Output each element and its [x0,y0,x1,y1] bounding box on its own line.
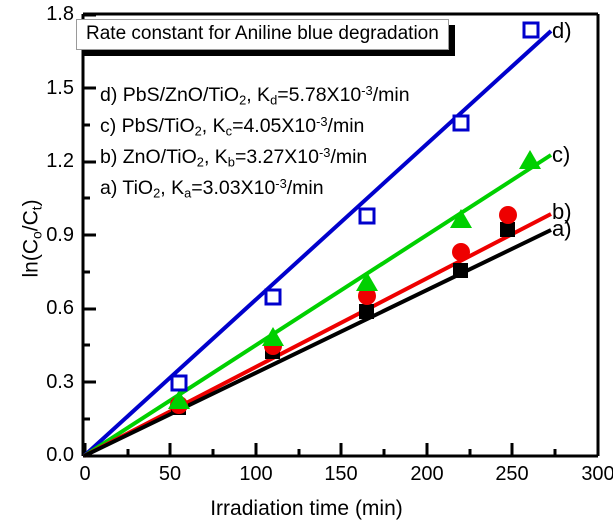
y-axis-title-post: ) [20,199,43,206]
curve-tag-d: d) [552,18,572,44]
x-tick-label-2: 100 [226,463,286,486]
y-axis-title-mid: /C [20,210,43,231]
legend-d-sep: , K [246,84,270,106]
legend-c-sep: , K [202,115,226,137]
y-axis-title: ln(Co/Ct) [20,143,45,333]
legend-c-value: =4.05X10 [232,115,316,137]
x-tick-label-3: 150 [311,463,371,486]
legend-c-exponent: -3 [316,114,327,129]
y-tick-label-6: 1.8 [28,3,74,26]
legend-b-formula-sub: 2 [197,155,204,170]
legend-d-exponent: -3 [361,83,372,98]
chart-figure: Rate constant for Aniline blue degradati… [0,0,613,532]
y-axis-title-sub-o: o [28,231,44,239]
legend-a-unit: /min [287,177,324,199]
legend-row-d: d) PbS/ZnO/TiO2, Kd=5.78X10-3/min [100,80,410,111]
legend-a-formula: a) TiO [100,177,153,199]
legend-c-unit: /min [328,115,365,137]
curve-tag-c: c) [552,142,570,168]
legend-row-a: a) TiO2, Ka=3.03X10-3/min [100,173,410,204]
legend-d-formula: d) PbS/ZnO/TiO [100,84,239,106]
x-tick-label-0: 0 [55,463,115,486]
y-tick-label-1: 0.3 [28,371,74,394]
legend-row-b: b) ZnO/TiO2, Kb=3.27X10-3/min [100,142,410,173]
y-axis-title-pre: ln(C [20,239,43,278]
legend-b-value: =3.27X10 [235,146,319,168]
x-tick-label-4: 200 [397,463,457,486]
fit-line-series-a [84,230,551,456]
legend-row-c: c) PbS/TiO2, Kc=4.05X10-3/min [100,111,410,142]
markers-series-d [172,23,538,390]
legend-block: d) PbS/ZnO/TiO2, Kd=5.78X10-3/min c) PbS… [100,80,410,204]
x-tick-label-1: 50 [140,463,200,486]
y-tick-label-5: 1.5 [28,77,74,100]
x-tick-label-5: 250 [482,463,542,486]
x-tick-label-6: 300 [568,463,613,486]
y-axis-major-ticks [83,15,96,456]
legend-a-sep: , K [160,177,184,199]
legend-b-k-sub: b [228,155,235,170]
fit-line-series-b [84,214,551,456]
legend-d-value: =5.78X10 [277,84,361,106]
legend-a-exponent: -3 [275,176,286,191]
legend-b-formula: b) ZnO/TiO [100,146,197,168]
legend-b-exponent: -3 [319,145,330,160]
legend-a-value: =3.03X10 [191,177,275,199]
y-axis-title-sub-t: t [28,206,44,210]
legend-c-formula: c) PbS/TiO [100,115,195,137]
legend-b-sep: , K [204,146,228,168]
legend-c-formula-sub: 2 [195,124,202,139]
x-axis-title: Irradiation time (min) [0,497,613,521]
legend-b-unit: /min [330,146,367,168]
legend-d-unit: /min [373,84,410,106]
x-axis-major-ticks [85,443,598,456]
curve-tag-a: a) [552,216,572,242]
chart-title-box: Rate constant for Aniline blue degradati… [76,19,449,50]
